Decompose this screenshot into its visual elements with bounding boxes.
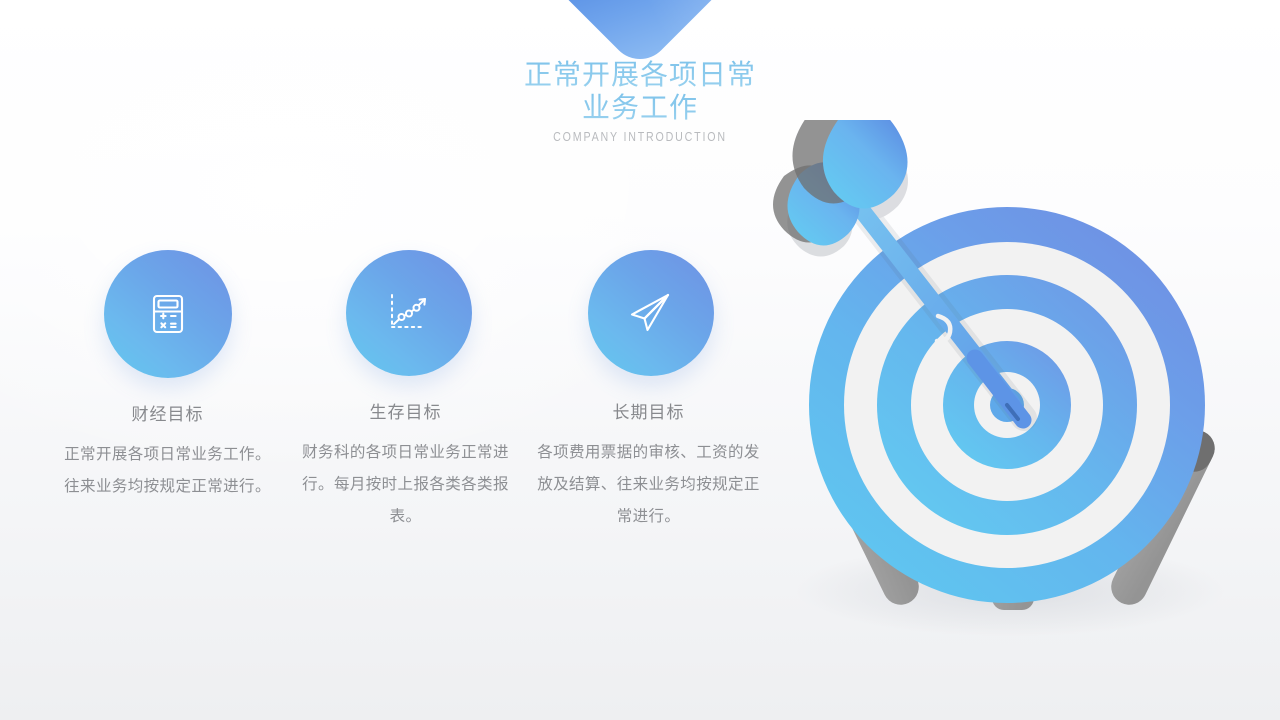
feature-body: 各项费用票据的审核、工资的发放及结算、往来业务均按规定正常进行。 bbox=[527, 437, 770, 533]
feature-icon-circle-3[interactable] bbox=[588, 250, 714, 376]
slide-canvas: 正常开展各项日常 业务工作 COMPANY INTRODUCTION bbox=[0, 0, 1280, 720]
page-subtitle: COMPANY INTRODUCTION bbox=[545, 129, 735, 144]
feature-icon-circle-2[interactable] bbox=[346, 250, 472, 376]
page-title-line-2: 业务工作 bbox=[524, 91, 756, 124]
feature-item-survival[interactable]: 生存目标 财务科的各项日常业务正常进行。每月按时上报各类各类报表。 bbox=[284, 250, 527, 533]
feature-heading: 生存目标 bbox=[284, 398, 527, 423]
calculator-icon bbox=[148, 292, 188, 336]
feature-heading: 长期目标 bbox=[527, 398, 770, 423]
feature-body: 正常开展各项日常业务工作。往来业务均按规定正常进行。 bbox=[46, 439, 289, 503]
feature-list: 财经目标 正常开展各项日常业务工作。往来业务均按规定正常进行。 bbox=[20, 250, 770, 533]
feature-heading: 财经目标 bbox=[46, 400, 289, 425]
feature-body: 财务科的各项日常业务正常进行。每月按时上报各类各类报表。 bbox=[284, 437, 527, 533]
growth-chart-icon bbox=[386, 290, 432, 336]
page-title-line-1: 正常开展各项日常 bbox=[524, 58, 756, 91]
top-diamond-decoration bbox=[533, 0, 748, 71]
feature-item-financial[interactable]: 财经目标 正常开展各项日常业务工作。往来业务均按规定正常进行。 bbox=[46, 250, 289, 503]
paper-plane-icon bbox=[627, 290, 675, 336]
feature-item-longterm[interactable]: 长期目标 各项费用票据的审核、工资的发放及结算、往来业务均按规定正常进行。 bbox=[527, 250, 770, 533]
dartboard-illustration bbox=[760, 120, 1260, 640]
feature-icon-circle-1[interactable] bbox=[104, 250, 232, 378]
